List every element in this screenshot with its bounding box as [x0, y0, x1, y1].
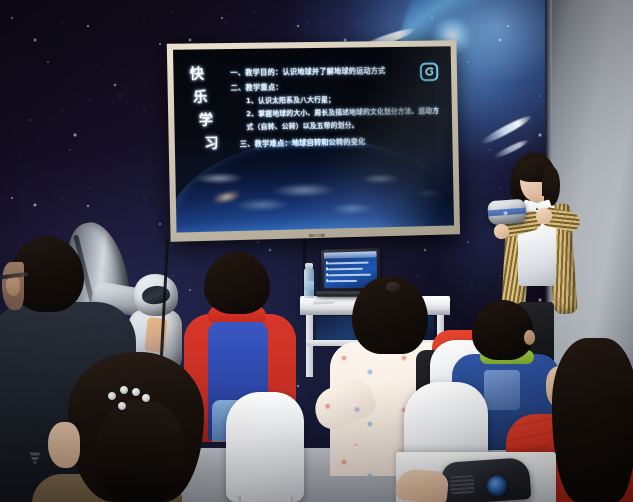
projector-device[interactable] — [441, 457, 532, 502]
chair-leg — [288, 496, 293, 502]
pearl-hair-clip-bead — [132, 388, 140, 396]
woman-foreground-ponytail — [96, 400, 184, 502]
slide-line-3: 1、认识太阳系及八大行星； — [246, 95, 440, 105]
projector-lens-icon — [486, 474, 509, 497]
vertical-char-3: 学 — [199, 113, 234, 128]
woman-foreground — [52, 352, 242, 502]
display-screen[interactable]: 快 乐 学 习 一、教学目的：认识地球并了解地球的运动方式 二、教学重点： 1、… — [173, 46, 454, 232]
slide-line-4: 2、掌握地球的大小、周长及描述地球的文化划分方法、运动方 — [246, 108, 440, 118]
projector-vent — [450, 475, 475, 495]
vertical-char-1: 快 — [190, 67, 233, 82]
demo-device-indicator-icon — [503, 210, 508, 214]
slide-line-2: 二、教学重点： — [231, 81, 440, 92]
laptop-window-titlebar — [324, 251, 377, 259]
classroom-scene: 快 乐 学 习 一、教学目的：认识地球并了解地球的运动方式 二、教学重点： 1、… — [0, 0, 633, 502]
pearl-hair-clip-bead — [142, 394, 150, 402]
woman-foreground-hand — [48, 422, 80, 468]
jacket-emblem-icon — [26, 448, 44, 466]
spiral-brand-logo-icon — [420, 62, 439, 81]
pearl-hair-clip-bead — [120, 386, 128, 394]
laptop-list-row — [328, 268, 363, 270]
handheld-demo-device[interactable] — [487, 199, 527, 226]
pearl-hair-clip-bead — [108, 392, 116, 400]
slide-vertical-title: 快 乐 学 习 — [190, 67, 234, 160]
slide-line-5: 式（自转、公转）以及五带的划分。 — [246, 121, 440, 132]
presenter-hand-right — [536, 208, 552, 224]
vertical-char-2: 乐 — [193, 90, 233, 105]
slide-line-1: 一、教学目的：认识地球并了解地球的运动方式 — [230, 66, 439, 77]
boy-center-left-head — [204, 252, 270, 314]
desk-leg-left — [306, 315, 313, 377]
boy-right-ear — [524, 330, 535, 345]
pearl-hair-clip-bead — [118, 402, 126, 410]
wall-display[interactable]: 快 乐 学 习 一、教学目的：认识地球并了解地球的运动方式 二、教学重点： 1、… — [167, 40, 460, 242]
water-bottle-label — [304, 281, 314, 290]
laptop-list-row — [328, 262, 369, 265]
display-brand-plate — [309, 234, 325, 237]
presentation-slide: 快 乐 学 习 一、教学目的：认识地球并了解地球的运动方式 二、教学重点： 1、… — [173, 46, 454, 232]
slide-text-body: 一、教学目的：认识地球并了解地球的运动方式 二、教学重点： 1、认识太阳系及八大… — [230, 66, 441, 154]
water-bottle-cap — [305, 263, 313, 269]
girl-front-right-hair — [552, 338, 633, 502]
girl-center-hair-tie — [386, 282, 400, 292]
adult-man-ear — [6, 276, 20, 296]
slide-line-6: 三、教学难点：地球自转和公转的变化 — [240, 136, 441, 147]
vertical-char-4: 习 — [204, 137, 234, 152]
foreground-hand — [394, 467, 449, 502]
